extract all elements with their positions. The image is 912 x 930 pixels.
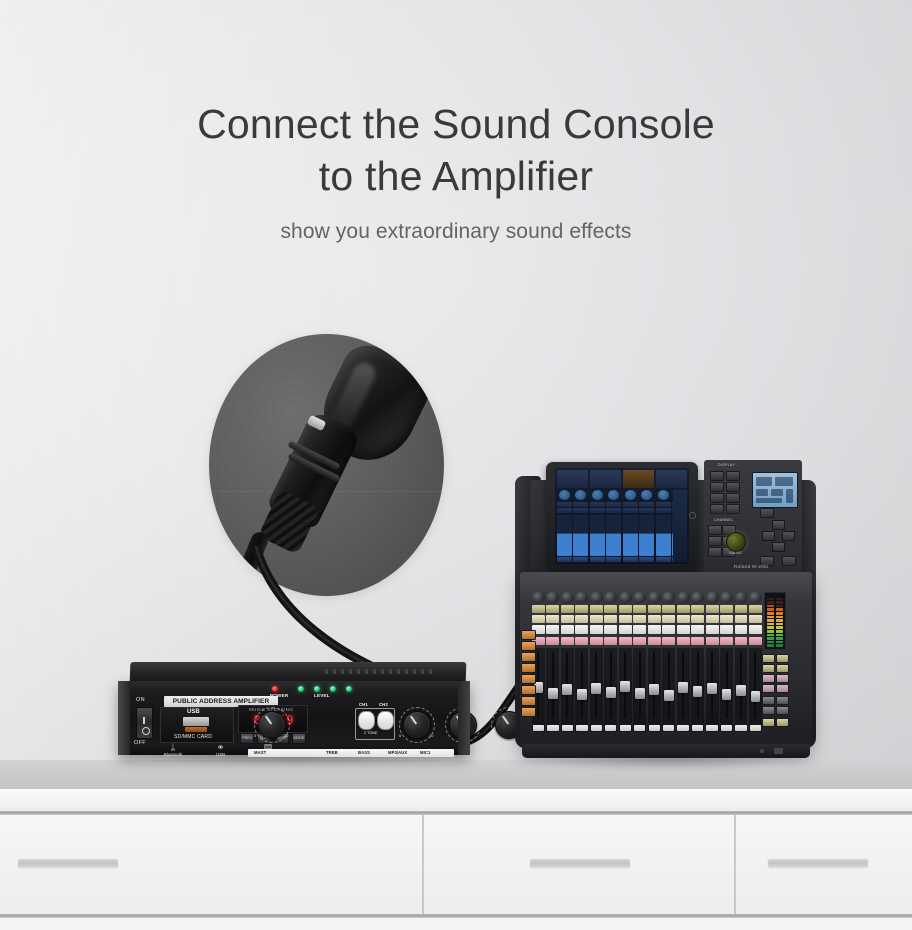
channel-rotary[interactable] <box>720 592 733 603</box>
tablet-strip[interactable] <box>573 490 588 562</box>
channel-rotary[interactable] <box>735 592 748 603</box>
tablet-strip[interactable] <box>656 490 671 562</box>
cabinet-panel-center <box>424 815 736 915</box>
layer-select-button[interactable] <box>521 663 536 673</box>
ch1-label: CH1 <box>359 702 368 707</box>
channel-mute-button[interactable] <box>619 637 632 645</box>
fader-label <box>620 725 631 731</box>
fader-cap[interactable] <box>620 681 630 692</box>
channel-scribble-strip <box>590 625 603 634</box>
dpad-right-button[interactable] <box>782 531 795 541</box>
tablet-meter-panel <box>557 470 588 488</box>
monitor-button[interactable] <box>776 684 789 693</box>
channel-rotary[interactable] <box>546 592 559 603</box>
channel-mute-button[interactable] <box>691 637 704 645</box>
tablet-strip-fader[interactable] <box>557 515 572 556</box>
console-level-meters <box>764 592 786 650</box>
channel-assign-button[interactable] <box>633 615 646 623</box>
layer-button[interactable] <box>762 706 775 715</box>
channel-fader[interactable] <box>604 648 617 732</box>
knob-label-mp3aux: MP3/AUX <box>388 749 407 757</box>
channel-select-button[interactable] <box>662 605 675 613</box>
layer-select-button[interactable] <box>521 696 536 706</box>
cluster-aux-button-3[interactable] <box>782 556 796 566</box>
channel-mute-button[interactable] <box>546 637 559 645</box>
tablet-strip-button[interactable] <box>590 557 605 562</box>
fader-track <box>726 652 728 718</box>
tablet-strip-knob[interactable] <box>575 490 586 500</box>
fader-cap[interactable] <box>606 687 616 698</box>
channel-mute-button[interactable] <box>561 637 574 645</box>
tablet-strip-knob[interactable] <box>608 490 619 500</box>
console-brand-label: Roland M-200i <box>734 564 768 569</box>
power-indicator-label: POWER <box>270 693 288 698</box>
tablet-strip-cell <box>623 502 638 507</box>
meter-segment <box>776 605 783 608</box>
power-led <box>272 686 278 692</box>
fader-label <box>591 725 602 731</box>
meter-segment <box>776 619 783 622</box>
tablet-strip-knob[interactable] <box>658 490 669 500</box>
channel-assign-button[interactable] <box>662 615 675 623</box>
channel-rotary[interactable] <box>691 592 704 603</box>
channel-rotary[interactable] <box>575 592 588 603</box>
lcd-segment <box>756 477 772 486</box>
fader-label <box>562 725 573 731</box>
monitor-button[interactable] <box>762 684 775 693</box>
channel-scribble-strip <box>604 625 617 634</box>
level-led-4 <box>346 686 352 692</box>
tablet-strip-fader[interactable] <box>656 515 671 556</box>
channel-select-button[interactable] <box>735 605 748 613</box>
console-fader-bank <box>532 592 762 732</box>
power-off-label: OFF <box>134 740 146 746</box>
tablet-strip-fader[interactable] <box>573 515 588 556</box>
display-button-5[interactable] <box>710 493 724 503</box>
fader-label <box>576 725 587 731</box>
lcd-segment <box>786 489 793 503</box>
usb-label: USB <box>187 709 200 715</box>
channel-fader[interactable] <box>677 648 690 732</box>
meter-segment <box>767 605 774 608</box>
lcd-segment <box>756 489 768 496</box>
fader-cap[interactable] <box>591 683 601 694</box>
channel-fader[interactable] <box>561 648 574 732</box>
channel-scribble-strip <box>561 625 574 634</box>
tablet-strip-button[interactable] <box>656 557 671 562</box>
channel-select-button[interactable] <box>532 605 545 613</box>
channel-mute-button[interactable] <box>735 637 748 645</box>
channel-select-button[interactable] <box>648 605 661 613</box>
meter-segment <box>776 601 783 604</box>
bluetooth-icon-group: ᛦ Bluetooth <box>158 743 188 755</box>
meter-segment <box>776 630 783 633</box>
tablet-strip-knob[interactable] <box>625 490 636 500</box>
channel-scribble-strip <box>720 625 733 634</box>
channel-assign-button[interactable] <box>735 615 748 623</box>
scene-button[interactable] <box>776 718 789 727</box>
tablet-status-panel <box>656 470 687 488</box>
power-off-mark-icon <box>142 727 150 735</box>
tablet-strip[interactable] <box>623 490 638 562</box>
fader-cap[interactable] <box>664 690 674 701</box>
tablet-strip-cell <box>590 502 605 507</box>
channel-scribble-strip <box>619 625 632 634</box>
tablet-strip-cell <box>557 502 572 507</box>
aux-send-button[interactable] <box>776 664 789 673</box>
channel-assign-button[interactable] <box>561 615 574 623</box>
channel-rotary[interactable] <box>662 592 675 603</box>
channel-assign-button[interactable] <box>604 615 617 623</box>
channel-fader[interactable] <box>662 648 675 732</box>
fader-cap[interactable] <box>736 685 746 696</box>
desk-top-surface <box>0 789 912 813</box>
tablet-strip-fader[interactable] <box>590 515 605 556</box>
cabinet <box>0 815 912 930</box>
channel-fader[interactable] <box>590 648 603 732</box>
channel-assign-button[interactable] <box>648 615 661 623</box>
channel-rotary[interactable] <box>749 592 762 603</box>
ch2-button[interactable] <box>377 711 394 730</box>
channel-assign-button[interactable] <box>590 615 603 623</box>
channel-assign-button[interactable] <box>720 615 733 623</box>
channel-scribble-strip <box>691 625 704 634</box>
channel-assign-button[interactable] <box>619 615 632 623</box>
cabinet-panel-left <box>0 815 424 915</box>
display-button-1[interactable] <box>710 471 724 481</box>
channel-mute-button[interactable] <box>706 637 719 645</box>
channel-mute-button[interactable] <box>575 637 588 645</box>
channel-scribble-strip <box>648 625 661 634</box>
ch2-label: CH2 <box>379 702 388 707</box>
transport-button-mode[interactable]: MODE <box>292 733 306 744</box>
indicator-led-row: POWER LEVEL <box>270 686 362 700</box>
level-indicator-label: LEVEL <box>314 693 330 698</box>
level-led-3 <box>330 686 336 692</box>
tablet-strip-cell <box>639 508 654 513</box>
fader-label <box>547 725 558 731</box>
bluetooth-icon: ᛦ <box>158 743 188 752</box>
channel-rotary[interactable] <box>677 592 690 603</box>
meter-column-left <box>767 595 774 647</box>
meter-column-right <box>776 595 783 647</box>
channel-fader[interactable] <box>619 648 632 732</box>
display-section-label: DISPLAY <box>718 463 735 467</box>
meter-segment <box>776 616 783 619</box>
meter-segment <box>767 644 774 647</box>
channel-select-button[interactable] <box>619 605 632 613</box>
fader-cap[interactable] <box>649 684 659 695</box>
fader-label <box>721 725 732 731</box>
tablet-strip-cell <box>590 508 605 513</box>
tablet-strip-knob[interactable] <box>592 490 603 500</box>
channel-fader[interactable] <box>720 648 733 732</box>
layer-select-button[interactable] <box>521 674 536 684</box>
console-right-button-group <box>762 654 790 732</box>
fader-track <box>668 652 670 718</box>
layer-select-button[interactable] <box>521 630 536 640</box>
dpad-down-button[interactable] <box>772 542 785 552</box>
tablet-channel-strips <box>557 490 687 562</box>
channel-select-button[interactable] <box>749 605 762 613</box>
tablet-top-bar <box>557 470 687 488</box>
meter-segment <box>776 608 783 611</box>
page-title-line2: to the Amplifier <box>0 150 912 202</box>
channel-assign-button[interactable] <box>749 615 762 623</box>
tablet-strip-button[interactable] <box>623 557 638 562</box>
channel-mute-button[interactable] <box>590 637 603 645</box>
channel-fader[interactable] <box>648 648 661 732</box>
channel-mute-button[interactable] <box>648 637 661 645</box>
tablet-eq-panel <box>590 470 621 488</box>
display-button-7[interactable] <box>710 504 724 514</box>
tablet-strip-button[interactable] <box>639 557 654 562</box>
meter-segment <box>776 634 783 637</box>
channel-fader[interactable] <box>749 648 762 732</box>
aux-send-button[interactable] <box>762 664 775 673</box>
fader-label <box>735 725 746 731</box>
channel-assign-button[interactable] <box>546 615 559 623</box>
channel-select-button[interactable] <box>546 605 559 613</box>
amplifier-vent-slots <box>325 669 435 674</box>
channel-rotary[interactable] <box>706 592 719 603</box>
meter-segment <box>767 612 774 615</box>
treble-knob-max: 10 <box>429 733 433 738</box>
page-subtitle: show you extraordinary sound effects <box>0 220 912 244</box>
tablet-strip-fader[interactable] <box>623 515 638 556</box>
channel-assign-button[interactable] <box>575 615 588 623</box>
channel-scribble-strip <box>706 625 719 634</box>
meter-segment <box>776 598 783 601</box>
fader-track <box>639 652 641 718</box>
knob-label-master: MAST <box>254 749 266 757</box>
channel-select-button[interactable] <box>633 605 646 613</box>
fader-label <box>663 725 674 731</box>
layer-select-button[interactable] <box>521 641 536 651</box>
channel-select-button[interactable] <box>604 605 617 613</box>
tablet-home-button-icon[interactable] <box>689 512 696 519</box>
fader-cap[interactable] <box>635 688 645 699</box>
knob-label-treble: TREB <box>326 749 338 757</box>
meter-segment <box>767 637 774 640</box>
tablet-mixer-app[interactable] <box>546 462 698 570</box>
tablet-strip[interactable] <box>606 490 621 562</box>
meter-segment <box>767 601 774 604</box>
meter-segment <box>767 634 774 637</box>
fader-cap[interactable] <box>577 689 587 700</box>
channel-mute-button[interactable] <box>677 637 690 645</box>
sd-card-slot[interactable] <box>185 727 207 732</box>
layer-select-button[interactable] <box>521 707 536 717</box>
display-button-4[interactable] <box>726 482 740 492</box>
usb-icon: ⚭ <box>206 743 236 752</box>
scene-button[interactable] <box>762 718 775 727</box>
tablet-strip-button[interactable] <box>557 557 572 562</box>
channel-select-button[interactable] <box>677 605 690 613</box>
channel-mute-button[interactable] <box>662 637 675 645</box>
tablet-strip[interactable] <box>590 490 605 562</box>
tablet-strip-cell <box>557 508 572 513</box>
monitor-button[interactable] <box>762 674 775 683</box>
fader-track <box>552 652 554 718</box>
master-knob-max: 10 <box>284 733 288 738</box>
ch1-button[interactable] <box>358 711 375 730</box>
channel-button-1[interactable] <box>708 525 722 535</box>
lcd-segment <box>756 498 782 503</box>
usb-port-slot[interactable] <box>183 717 209 726</box>
master-knob-min: 0 <box>254 733 256 738</box>
channel-mute-button[interactable] <box>633 637 646 645</box>
channel-fader[interactable] <box>575 648 588 732</box>
display-button-3[interactable] <box>710 482 724 492</box>
channel-rotary[interactable] <box>619 592 632 603</box>
meter-segment <box>767 641 774 644</box>
channel-rotary[interactable] <box>633 592 646 603</box>
cabinet-handle-right <box>768 859 868 868</box>
treble-knob[interactable] <box>403 711 431 739</box>
aux-send-button[interactable] <box>776 654 789 663</box>
usb-icon-label: USB <box>216 752 225 757</box>
channel-rotary[interactable] <box>590 592 603 603</box>
tablet-strip[interactable] <box>557 490 572 562</box>
channel-fader[interactable] <box>633 648 646 732</box>
bass-knob[interactable] <box>449 711 477 739</box>
tablet-strip-knob[interactable] <box>641 490 652 500</box>
meter-segment <box>776 644 783 647</box>
meter-segment <box>776 623 783 626</box>
knob-label-mic1: MIC1 <box>420 749 430 757</box>
fader-cap[interactable] <box>751 691 761 702</box>
tablet-master-panel[interactable] <box>673 490 687 562</box>
tablet-strip-cell <box>573 508 588 513</box>
channel-select-button[interactable] <box>590 605 603 613</box>
cluster-aux-button-1[interactable] <box>760 508 774 518</box>
channel-select-button[interactable] <box>575 605 588 613</box>
console-lcd-screen[interactable] <box>752 472 798 508</box>
fader-cap[interactable] <box>562 684 572 695</box>
channel-rotary[interactable] <box>648 592 661 603</box>
tablet-strip-cell <box>656 508 671 513</box>
channel-rotary[interactable] <box>561 592 574 603</box>
page-title-line1: Connect the Sound Console <box>0 98 912 150</box>
channel-mute-button[interactable] <box>604 637 617 645</box>
channel-assign-button[interactable] <box>706 615 719 623</box>
dpad-left-button[interactable] <box>762 531 775 541</box>
cabinet-panel-right <box>736 815 912 915</box>
meter-segment <box>767 630 774 633</box>
tablet-strip-fader[interactable] <box>606 515 621 556</box>
tablet-strip-cell <box>606 508 621 513</box>
pink-button-row <box>532 637 762 645</box>
console-control-cluster: DISPLAY CHANNEL <box>704 460 802 572</box>
channel-fader[interactable] <box>735 648 748 732</box>
channel-assign-button[interactable] <box>677 615 690 623</box>
tablet-strip-fader[interactable] <box>639 515 654 556</box>
meter-segment <box>767 598 774 601</box>
fader-cap[interactable] <box>548 688 558 699</box>
fader-cap[interactable] <box>722 689 732 700</box>
channel-select-button[interactable] <box>691 605 704 613</box>
power-on-label: ON <box>136 697 145 703</box>
master-knob[interactable] <box>258 711 286 739</box>
channel-fader[interactable] <box>546 648 559 732</box>
channel-rotary[interactable] <box>604 592 617 603</box>
headline-block: Connect the Sound Console to the Amplifi… <box>0 98 912 244</box>
layer-select-button[interactable] <box>521 652 536 662</box>
channel-select-button[interactable] <box>720 605 733 613</box>
layer-button[interactable] <box>762 696 775 705</box>
digital-mixing-console: DISPLAY CHANNEL <box>512 452 818 764</box>
fader-cap[interactable] <box>707 683 717 694</box>
channel-mute-button[interactable] <box>720 637 733 645</box>
fader-cap[interactable] <box>678 682 688 693</box>
media-slot-panel[interactable]: USB SD/MMC CARD <box>160 707 234 743</box>
fader-cap[interactable] <box>693 686 703 697</box>
monitor-button[interactable] <box>776 674 789 683</box>
tablet-strip-button[interactable] <box>606 557 621 562</box>
knob-name-strip: MAST TREB BASS MP3/AUX MIC1 <box>248 749 454 757</box>
tablet-strip-knob[interactable] <box>559 490 570 500</box>
channel-mute-button[interactable] <box>749 637 762 645</box>
tablet-strip[interactable] <box>639 490 654 562</box>
channel-assign-button[interactable] <box>691 615 704 623</box>
channel-rotary[interactable] <box>532 592 545 603</box>
display-button-2[interactable] <box>726 471 740 481</box>
channel-button-3[interactable] <box>708 536 722 546</box>
fader-label <box>605 725 616 731</box>
layer-select-button[interactable] <box>521 685 536 695</box>
scribble-strip-row <box>532 625 762 634</box>
sd-card-label: SD/MMC CARD <box>174 734 212 740</box>
tablet-strip-button[interactable] <box>573 557 588 562</box>
tablet-strip-cell <box>639 502 654 507</box>
display-button-6[interactable] <box>726 493 740 503</box>
meter-segment <box>767 623 774 626</box>
value-encoder-knob[interactable] <box>726 532 746 552</box>
channel-select-button[interactable] <box>561 605 574 613</box>
fader-track <box>697 652 699 718</box>
treble-knob-min: 0 <box>399 733 401 738</box>
console-headphone-jack[interactable] <box>774 748 783 754</box>
display-button-8[interactable] <box>726 504 740 514</box>
power-rocker-switch[interactable] <box>136 707 153 739</box>
channel-fader[interactable] <box>691 648 704 732</box>
channel-fader[interactable] <box>706 648 719 732</box>
meter-segment <box>776 626 783 629</box>
fader-track <box>754 652 756 718</box>
fader-label <box>677 725 688 731</box>
knob-label-bass: BASS <box>358 749 370 757</box>
meter-segment <box>767 616 774 619</box>
fader-label <box>649 725 660 731</box>
layer-button[interactable] <box>776 706 789 715</box>
channel-select-button[interactable] <box>706 605 719 613</box>
public-address-amplifier: PUBLIC ADDRESS AMPLIFIER ON OFF USB SD/M… <box>118 662 470 760</box>
level-led-2 <box>314 686 320 692</box>
fader-track <box>581 652 583 718</box>
lcd-segment <box>771 489 783 496</box>
rotary-encoder-row <box>532 592 762 603</box>
usb-icon-group: ⚭ USB <box>206 743 236 755</box>
channel-assign-button[interactable] <box>532 615 545 623</box>
dpad-up-button[interactable] <box>772 520 785 530</box>
channel-scribble-strip <box>735 625 748 634</box>
aux-send-button[interactable] <box>762 654 775 663</box>
channel-button-5[interactable] <box>708 547 722 557</box>
tablet-screen[interactable] <box>555 468 689 564</box>
layer-button[interactable] <box>776 696 789 705</box>
channel-scribble-strip <box>546 625 559 634</box>
